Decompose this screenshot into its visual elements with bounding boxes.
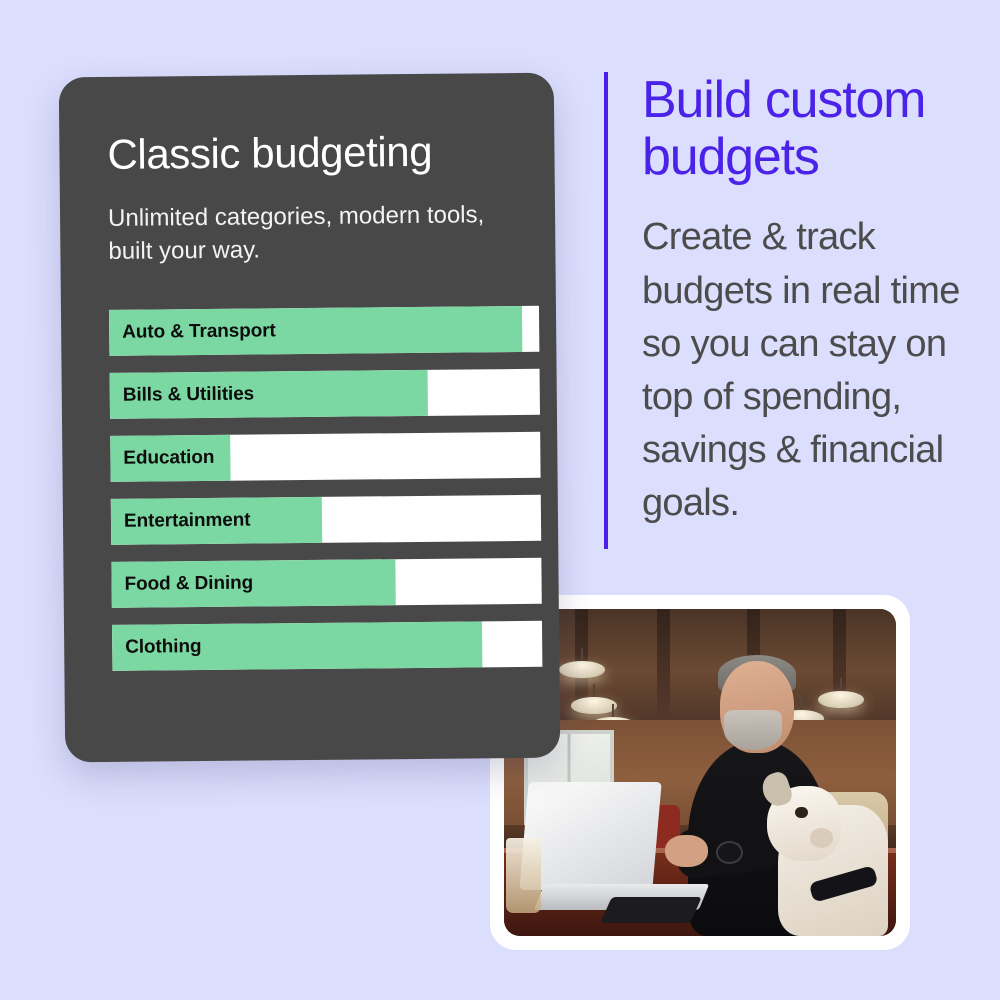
photo-pendant-lamp [559,661,605,678]
budget-bar-label: Entertainment [124,510,251,533]
photo-wristwatch [716,841,743,864]
budget-bar-label: Food & Dining [124,573,253,596]
photo-person-beard [724,710,783,749]
photo-phone [600,897,702,923]
photo-pendant-lamp [818,691,864,708]
budget-bar-row[interactable]: Bills & Utilities [110,369,540,419]
budget-category-list: Auto & TransportBills & UtilitiesEducati… [109,306,524,671]
budget-bar-label: Auto & Transport [122,321,276,344]
budget-bar-label: Education [123,447,214,470]
photo-dog-eye [795,807,808,819]
photo-pendant-lamp [571,697,617,714]
budget-bar-row[interactable]: Food & Dining [111,558,541,608]
cafe-laptop-photo [504,609,896,936]
budget-bar-row[interactable]: Education [110,432,540,482]
budget-bar-label: Clothing [125,636,201,659]
photo-beam [657,609,670,720]
card-title: Classic budgeting [107,129,519,177]
promo-headline: Build custom budgets [642,72,964,185]
promo-body: Create & track budgets in real time so y… [642,211,964,530]
budget-bar-label: Bills & Utilities [123,384,255,407]
promo-column: Build custom budgets Create & track budg… [604,72,964,530]
photo-dog-snout [810,828,834,848]
card-subtitle: Unlimited categories, modern tools, buil… [108,199,519,268]
photo-person-hand [665,835,708,868]
classic-budgeting-card: Classic budgeting Unlimited categories, … [59,73,561,763]
budget-bar-row[interactable]: Auto & Transport [109,306,539,356]
accent-rule [604,72,608,549]
budget-bar-row[interactable]: Clothing [112,621,542,671]
photo-drinking-glass [506,838,541,913]
budget-bar-row[interactable]: Entertainment [111,495,541,545]
